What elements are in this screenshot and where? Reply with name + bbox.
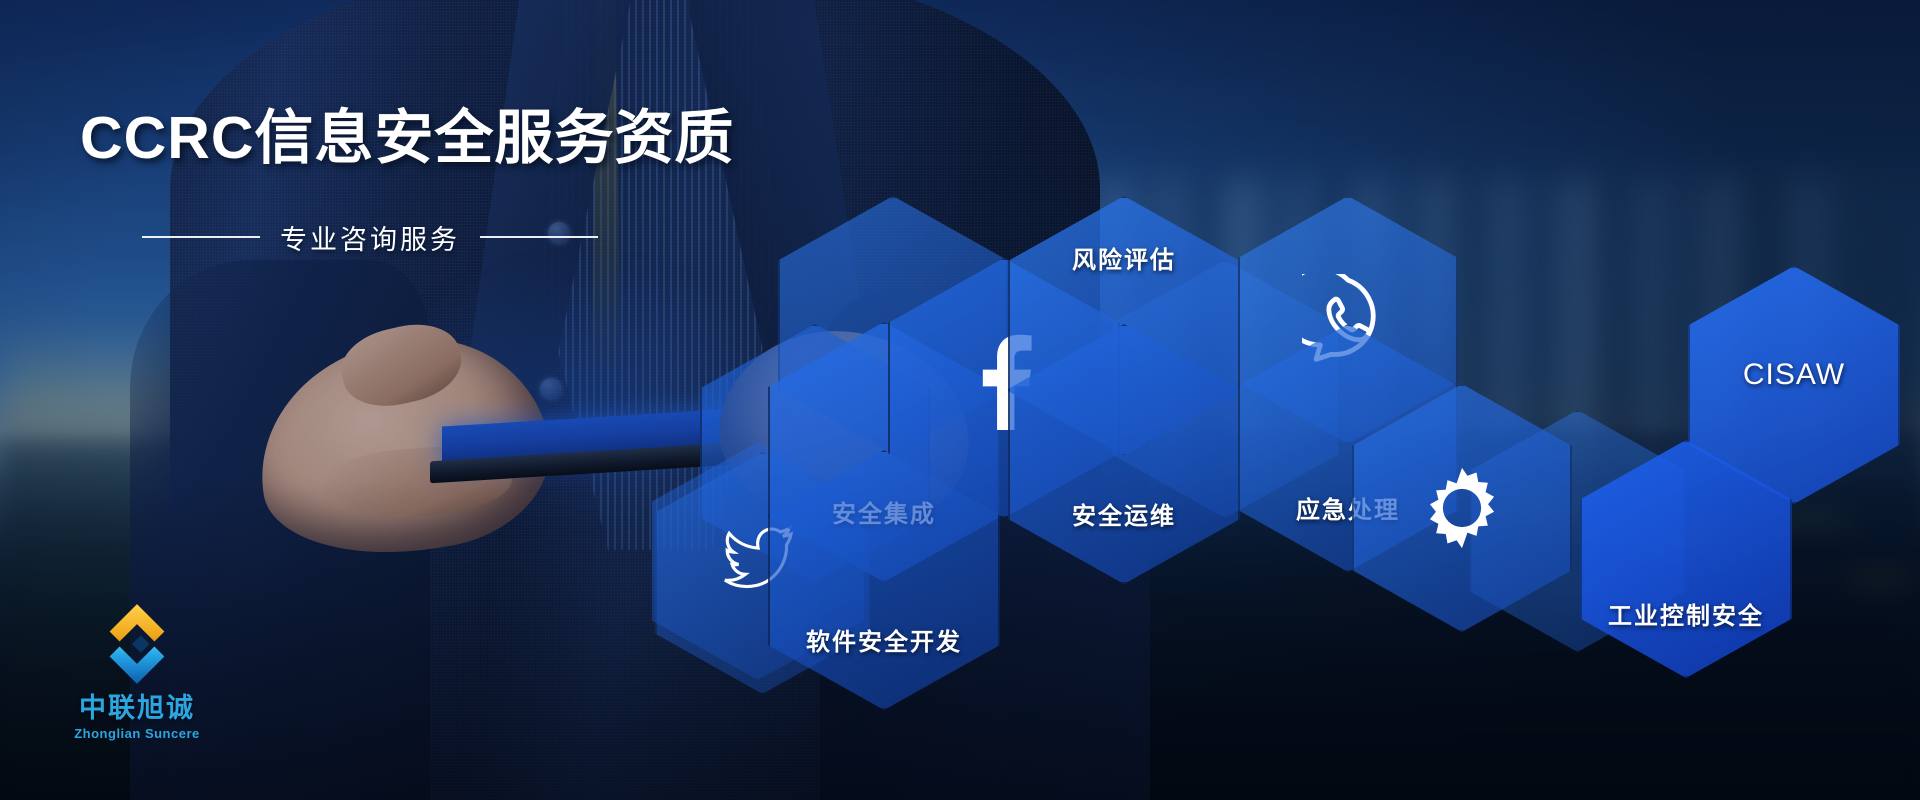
logo-mark-icon [93,600,181,688]
subtitle-rule-right [480,236,598,238]
gear-icon [1417,463,1507,553]
title-block: CCRC信息安全服务资质 专业咨询服务 [80,108,734,257]
hex-label-industrial-control-security: 工业控制安全 [1608,596,1764,631]
subtitle-text: 专业咨询服务 [280,218,460,257]
logo-name-en: Zhonglian Suncere [62,726,212,741]
page-title: CCRC信息安全服务资质 [80,108,734,170]
banner-root: 安全集成 软件安全开发 风险评估 安全运维 应急处 [0,0,1920,800]
hex-label-security-operations: 安全运维 [1072,496,1176,531]
hex-label-software-security-development: 软件安全开发 [806,622,962,657]
interlocking-diamond-logo-icon [93,600,181,688]
subtitle-row: 专业咨询服务 [142,218,734,257]
hex-label-cisaw: CISAW [1743,358,1845,392]
subtitle-rule-left [142,236,260,238]
company-logo[interactable]: 中联旭诚 Zhonglian Suncere [62,600,212,741]
logo-name-cn: 中联旭诚 [62,694,212,724]
hex-label-risk-assessment: 风险评估 [1072,240,1176,275]
